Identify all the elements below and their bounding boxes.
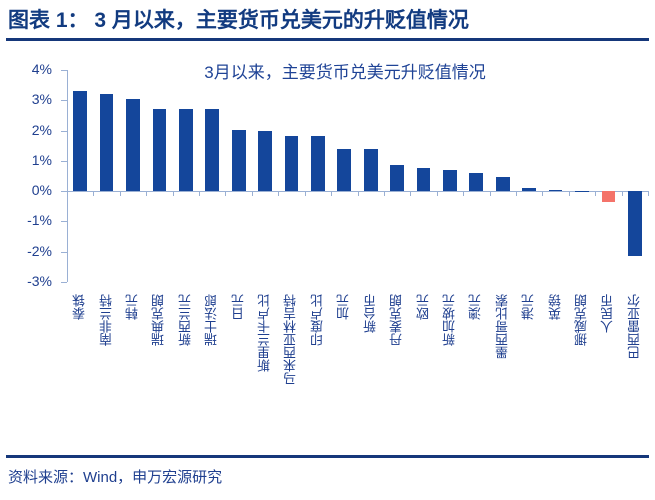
y-axis-tick-label: 4% bbox=[8, 61, 52, 77]
chart-container: 3月以来，主要货币兑美元升贬值情况 4%3%2%1%0%-1%-2%-3% 泰铢… bbox=[0, 44, 655, 448]
bar-南非兰特 bbox=[100, 94, 114, 191]
y-axis-tick bbox=[61, 282, 67, 283]
x-axis-tick bbox=[595, 191, 596, 196]
x-axis-label: 瑞士法郎 bbox=[205, 294, 218, 346]
y-axis-tick-label: -3% bbox=[8, 273, 52, 289]
exhibit-title-block: 图表 1： 3 月以来，主要货币兑美元的升贬值情况 bbox=[0, 0, 655, 42]
y-axis-tick-label: 3% bbox=[8, 91, 52, 107]
x-axis-tick bbox=[358, 191, 359, 196]
x-axis-label: 新西兰元 bbox=[179, 294, 192, 346]
x-axis-label: 泰铢 bbox=[73, 294, 86, 320]
bar-韩元 bbox=[126, 99, 140, 191]
bar-丹麦克朗 bbox=[390, 165, 404, 191]
x-axis-label: 斯里兰卡卢比 bbox=[258, 294, 271, 372]
x-axis-label: 人民币 bbox=[601, 294, 614, 333]
x-axis-label: 韩元 bbox=[126, 294, 139, 320]
y-axis-tick bbox=[61, 70, 67, 71]
x-axis-tick bbox=[516, 191, 517, 196]
bar-新台币 bbox=[364, 149, 378, 191]
x-axis-label: 加元 bbox=[337, 294, 350, 320]
x-axis-label: 新加坡元 bbox=[443, 294, 456, 346]
x-axis-label: 印度卢比 bbox=[311, 294, 324, 346]
x-axis-label: 欧元 bbox=[417, 294, 430, 320]
x-axis-label: 新台币 bbox=[364, 294, 377, 333]
bar-瑞典克朗 bbox=[153, 109, 167, 191]
x-axis-label: 丹麦克朗 bbox=[390, 294, 403, 346]
x-axis-label: 南非兰特 bbox=[100, 294, 113, 346]
y-axis-tick-label: 2% bbox=[8, 122, 52, 138]
source-note: 资料来源：Wind，申万宏源研究 bbox=[8, 466, 222, 487]
x-axis-label: 日元 bbox=[232, 294, 245, 320]
x-axis-tick bbox=[225, 191, 226, 196]
y-axis-tick bbox=[61, 161, 67, 162]
x-axis-label: 港元 bbox=[522, 294, 535, 320]
y-axis-tick bbox=[61, 131, 67, 132]
x-axis-label: 挪威克朗 bbox=[575, 294, 588, 346]
y-axis-tick bbox=[61, 100, 67, 101]
bar-泰铢 bbox=[73, 91, 87, 191]
x-axis-tick bbox=[146, 191, 147, 196]
x-axis-tick bbox=[384, 191, 385, 196]
y-axis-line bbox=[67, 70, 68, 282]
title-divider bbox=[6, 38, 649, 41]
bar-墨西哥比索 bbox=[496, 177, 510, 192]
x-axis-label: 英镑 bbox=[549, 294, 562, 320]
footer-divider bbox=[6, 455, 649, 458]
x-axis-tick bbox=[252, 191, 253, 196]
x-axis-tick bbox=[120, 191, 121, 196]
bar-印度卢比 bbox=[311, 136, 325, 191]
x-axis-tick bbox=[173, 191, 174, 196]
bar-瑞士法郎 bbox=[205, 109, 219, 191]
x-axis-tick bbox=[278, 191, 279, 196]
bar-日元 bbox=[232, 130, 246, 191]
bar-加元 bbox=[337, 149, 351, 191]
y-axis-tick-label: 0% bbox=[8, 182, 52, 198]
bar-新西兰元 bbox=[179, 109, 193, 191]
bar-新加坡元 bbox=[443, 170, 457, 191]
x-axis-tick bbox=[410, 191, 411, 196]
bar-马来西亚林吉特 bbox=[285, 136, 299, 191]
x-axis-tick bbox=[463, 191, 464, 196]
x-axis-tick bbox=[67, 191, 68, 196]
x-axis-label: 澳元 bbox=[469, 294, 482, 320]
bar-人民币 bbox=[602, 191, 616, 202]
x-axis-tick bbox=[305, 191, 306, 196]
x-axis-tick bbox=[93, 191, 94, 196]
y-axis-tick-label: -2% bbox=[8, 243, 52, 259]
x-axis-labels: 泰铢南非兰特韩元瑞典克朗新西兰元瑞士法郎日元斯里兰卡卢比马来西亚林吉特印度卢比加… bbox=[67, 294, 648, 444]
x-axis-label: 瑞典克朗 bbox=[152, 294, 165, 346]
x-axis-tick bbox=[437, 191, 438, 196]
x-axis-tick bbox=[622, 191, 623, 196]
x-axis-tick bbox=[569, 191, 570, 196]
y-axis-tick bbox=[61, 252, 67, 253]
bar-澳元 bbox=[469, 173, 483, 191]
chart-plot-area: 4%3%2%1%0%-1%-2%-3% bbox=[67, 70, 648, 282]
bar-挪威克朗 bbox=[575, 191, 589, 192]
x-axis-label: 马来西亚林吉特 bbox=[284, 294, 297, 385]
bar-巴西雷亚尔 bbox=[628, 191, 642, 256]
x-axis-label: 巴西雷亚尔 bbox=[628, 294, 641, 359]
x-axis-label: 墨西哥比索 bbox=[496, 294, 509, 359]
y-axis-tick-label: -1% bbox=[8, 212, 52, 228]
x-axis-tick bbox=[648, 191, 649, 196]
x-axis-tick bbox=[331, 191, 332, 196]
bar-英镑 bbox=[549, 190, 563, 192]
bar-斯里兰卡卢比 bbox=[258, 131, 272, 191]
bar-欧元 bbox=[417, 168, 431, 192]
x-axis-tick bbox=[542, 191, 543, 196]
x-axis-tick bbox=[199, 191, 200, 196]
y-axis-tick-label: 1% bbox=[8, 152, 52, 168]
page-title: 图表 1： 3 月以来，主要货币兑美元的升贬值情况 bbox=[8, 4, 469, 34]
x-axis-tick bbox=[490, 191, 491, 196]
bar-港元 bbox=[522, 188, 536, 191]
y-axis-tick bbox=[61, 221, 67, 222]
